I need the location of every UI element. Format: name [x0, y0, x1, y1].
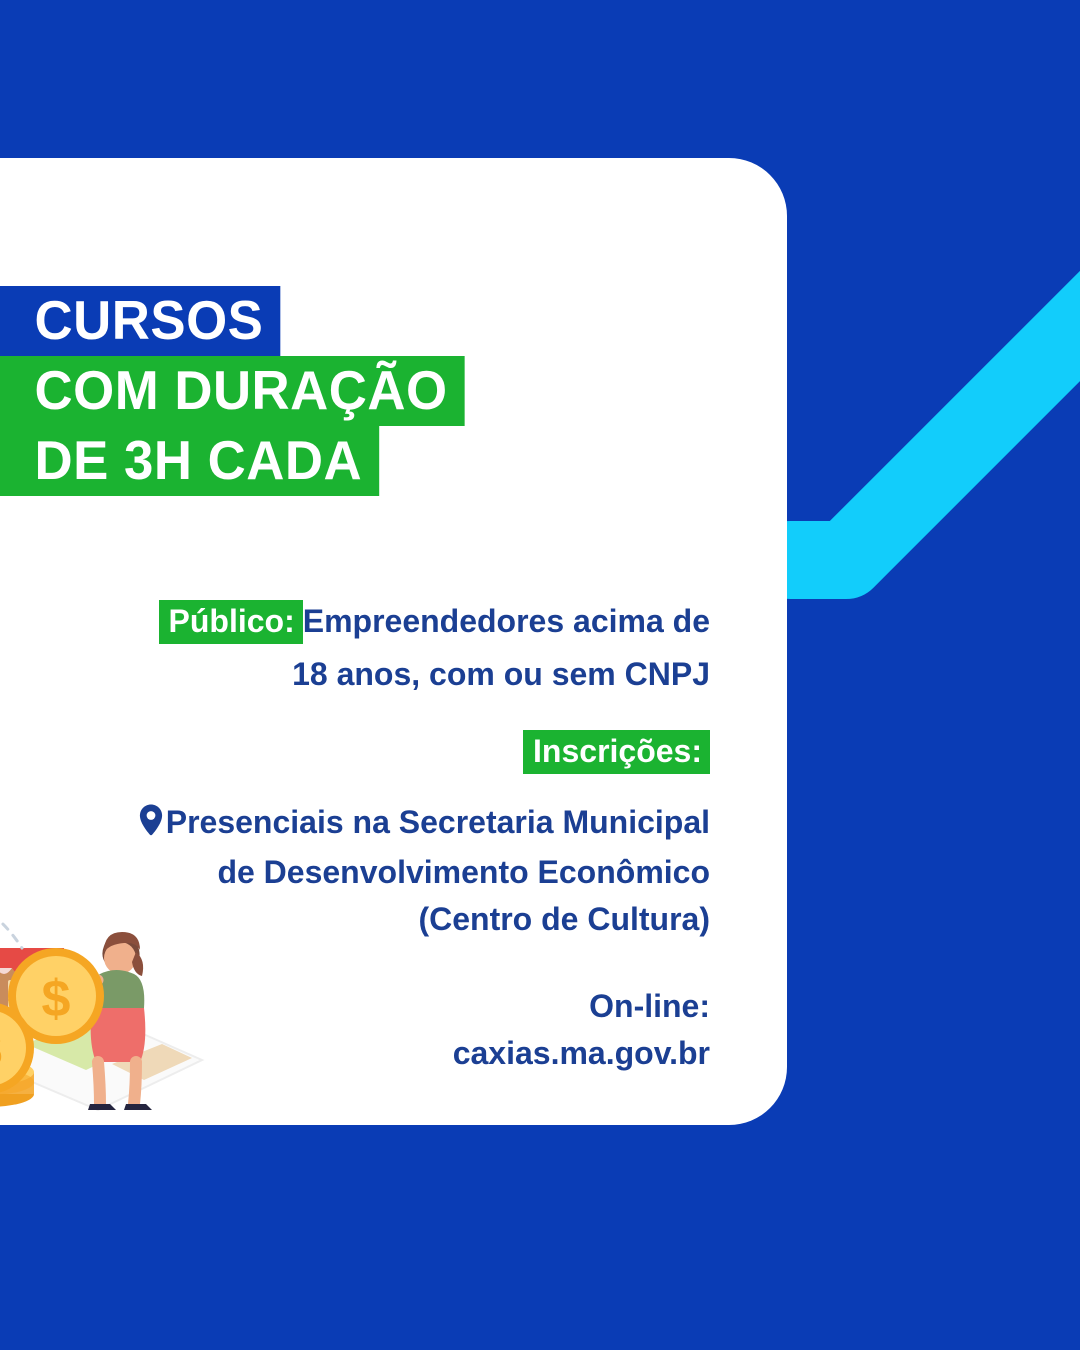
spacer-2	[60, 781, 710, 799]
svg-text:$: $	[0, 1022, 2, 1078]
headline-line-2: COM DURAÇÃO	[0, 356, 760, 426]
headline-group: CURSOS COM DURAÇÃO DE 3H CADA	[0, 286, 760, 496]
headline-band-duracao: COM DURAÇÃO	[0, 356, 465, 426]
headline-line-1: CURSOS	[0, 286, 760, 356]
audience-text-1: Empreendedores acima de	[303, 603, 710, 639]
poster-canvas: CURSOS COM DURAÇÃO DE 3H CADA Público:Em…	[0, 0, 1080, 1350]
spacer-1	[60, 698, 710, 730]
headline-band-3h: DE 3H CADA	[0, 426, 379, 496]
audience-line-1: Público:Empreendedores acima de	[60, 598, 710, 651]
headline-line-3: DE 3H CADA	[0, 426, 760, 496]
headline-band-cursos: CURSOS	[0, 286, 281, 356]
audience-label-badge: Público:	[159, 600, 303, 644]
entrepreneurs-illustration: $ $	[0, 848, 230, 1123]
registration-text-1: Presenciais na Secretaria Municipal	[166, 804, 710, 840]
registration-line-1: Presenciais na Secretaria Municipal	[60, 799, 710, 849]
audience-line-2: 18 anos, com ou sem CNPJ	[60, 651, 710, 698]
map-pin-icon	[138, 802, 164, 849]
registration-label-line: Inscrições:	[60, 730, 710, 781]
registration-label-badge: Inscrições:	[523, 730, 710, 774]
svg-text:$: $	[42, 970, 71, 1028]
